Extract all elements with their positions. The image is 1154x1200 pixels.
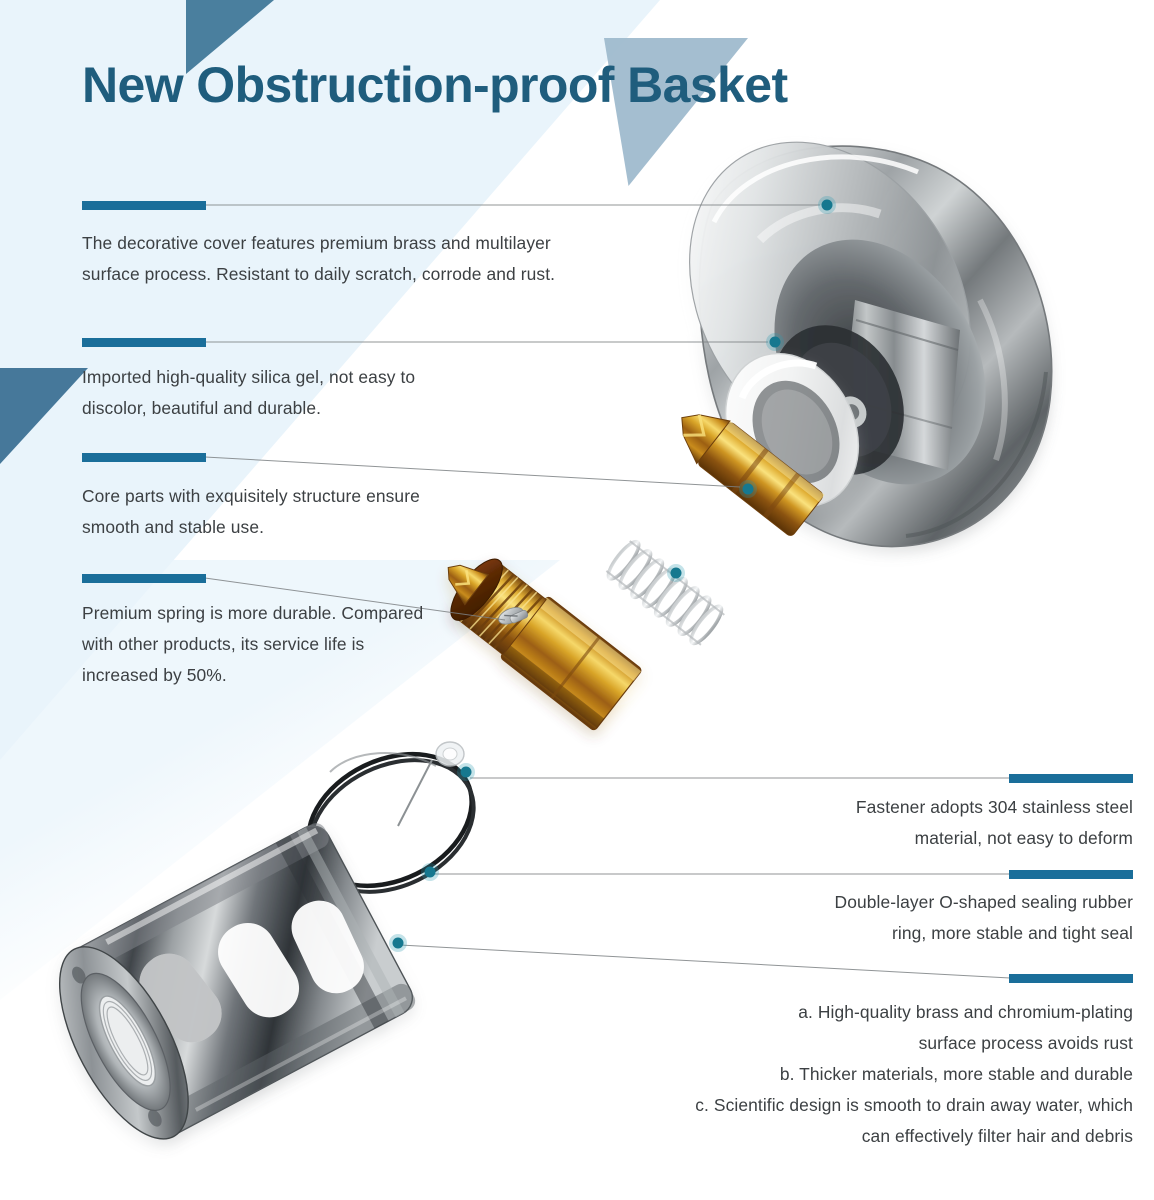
infographic-root: New Obstruction-proof Basket The decorat… — [0, 0, 1154, 1200]
chrome-basket-part — [34, 819, 420, 1158]
accent-bar-1 — [82, 201, 206, 210]
feature-text-2: Imported high-quality silica gel, not ea… — [82, 362, 682, 424]
accent-bar-5 — [1009, 774, 1133, 783]
steel-spring-part — [602, 537, 734, 655]
feature-text-4: Premium spring is more durable. Compared… — [82, 598, 552, 691]
accent-bar-2 — [82, 338, 206, 347]
feature-text-6: Double-layer O-shaped sealing rubber rin… — [633, 887, 1133, 949]
feature-text-5: Fastener adopts 304 stainless steel mate… — [633, 792, 1133, 854]
page-title: New Obstruction-proof Basket — [82, 56, 788, 114]
accent-bar-4 — [82, 574, 206, 583]
accent-bar-7 — [1009, 974, 1133, 983]
accent-bar-3 — [82, 453, 206, 462]
feature-text-3: Core parts with exquisitely structure en… — [82, 481, 682, 543]
feature-text-1: The decorative cover features premium br… — [82, 228, 682, 290]
feature-text-7: a. High-quality brass and chromium-plati… — [593, 997, 1133, 1152]
accent-bar-6 — [1009, 870, 1133, 879]
